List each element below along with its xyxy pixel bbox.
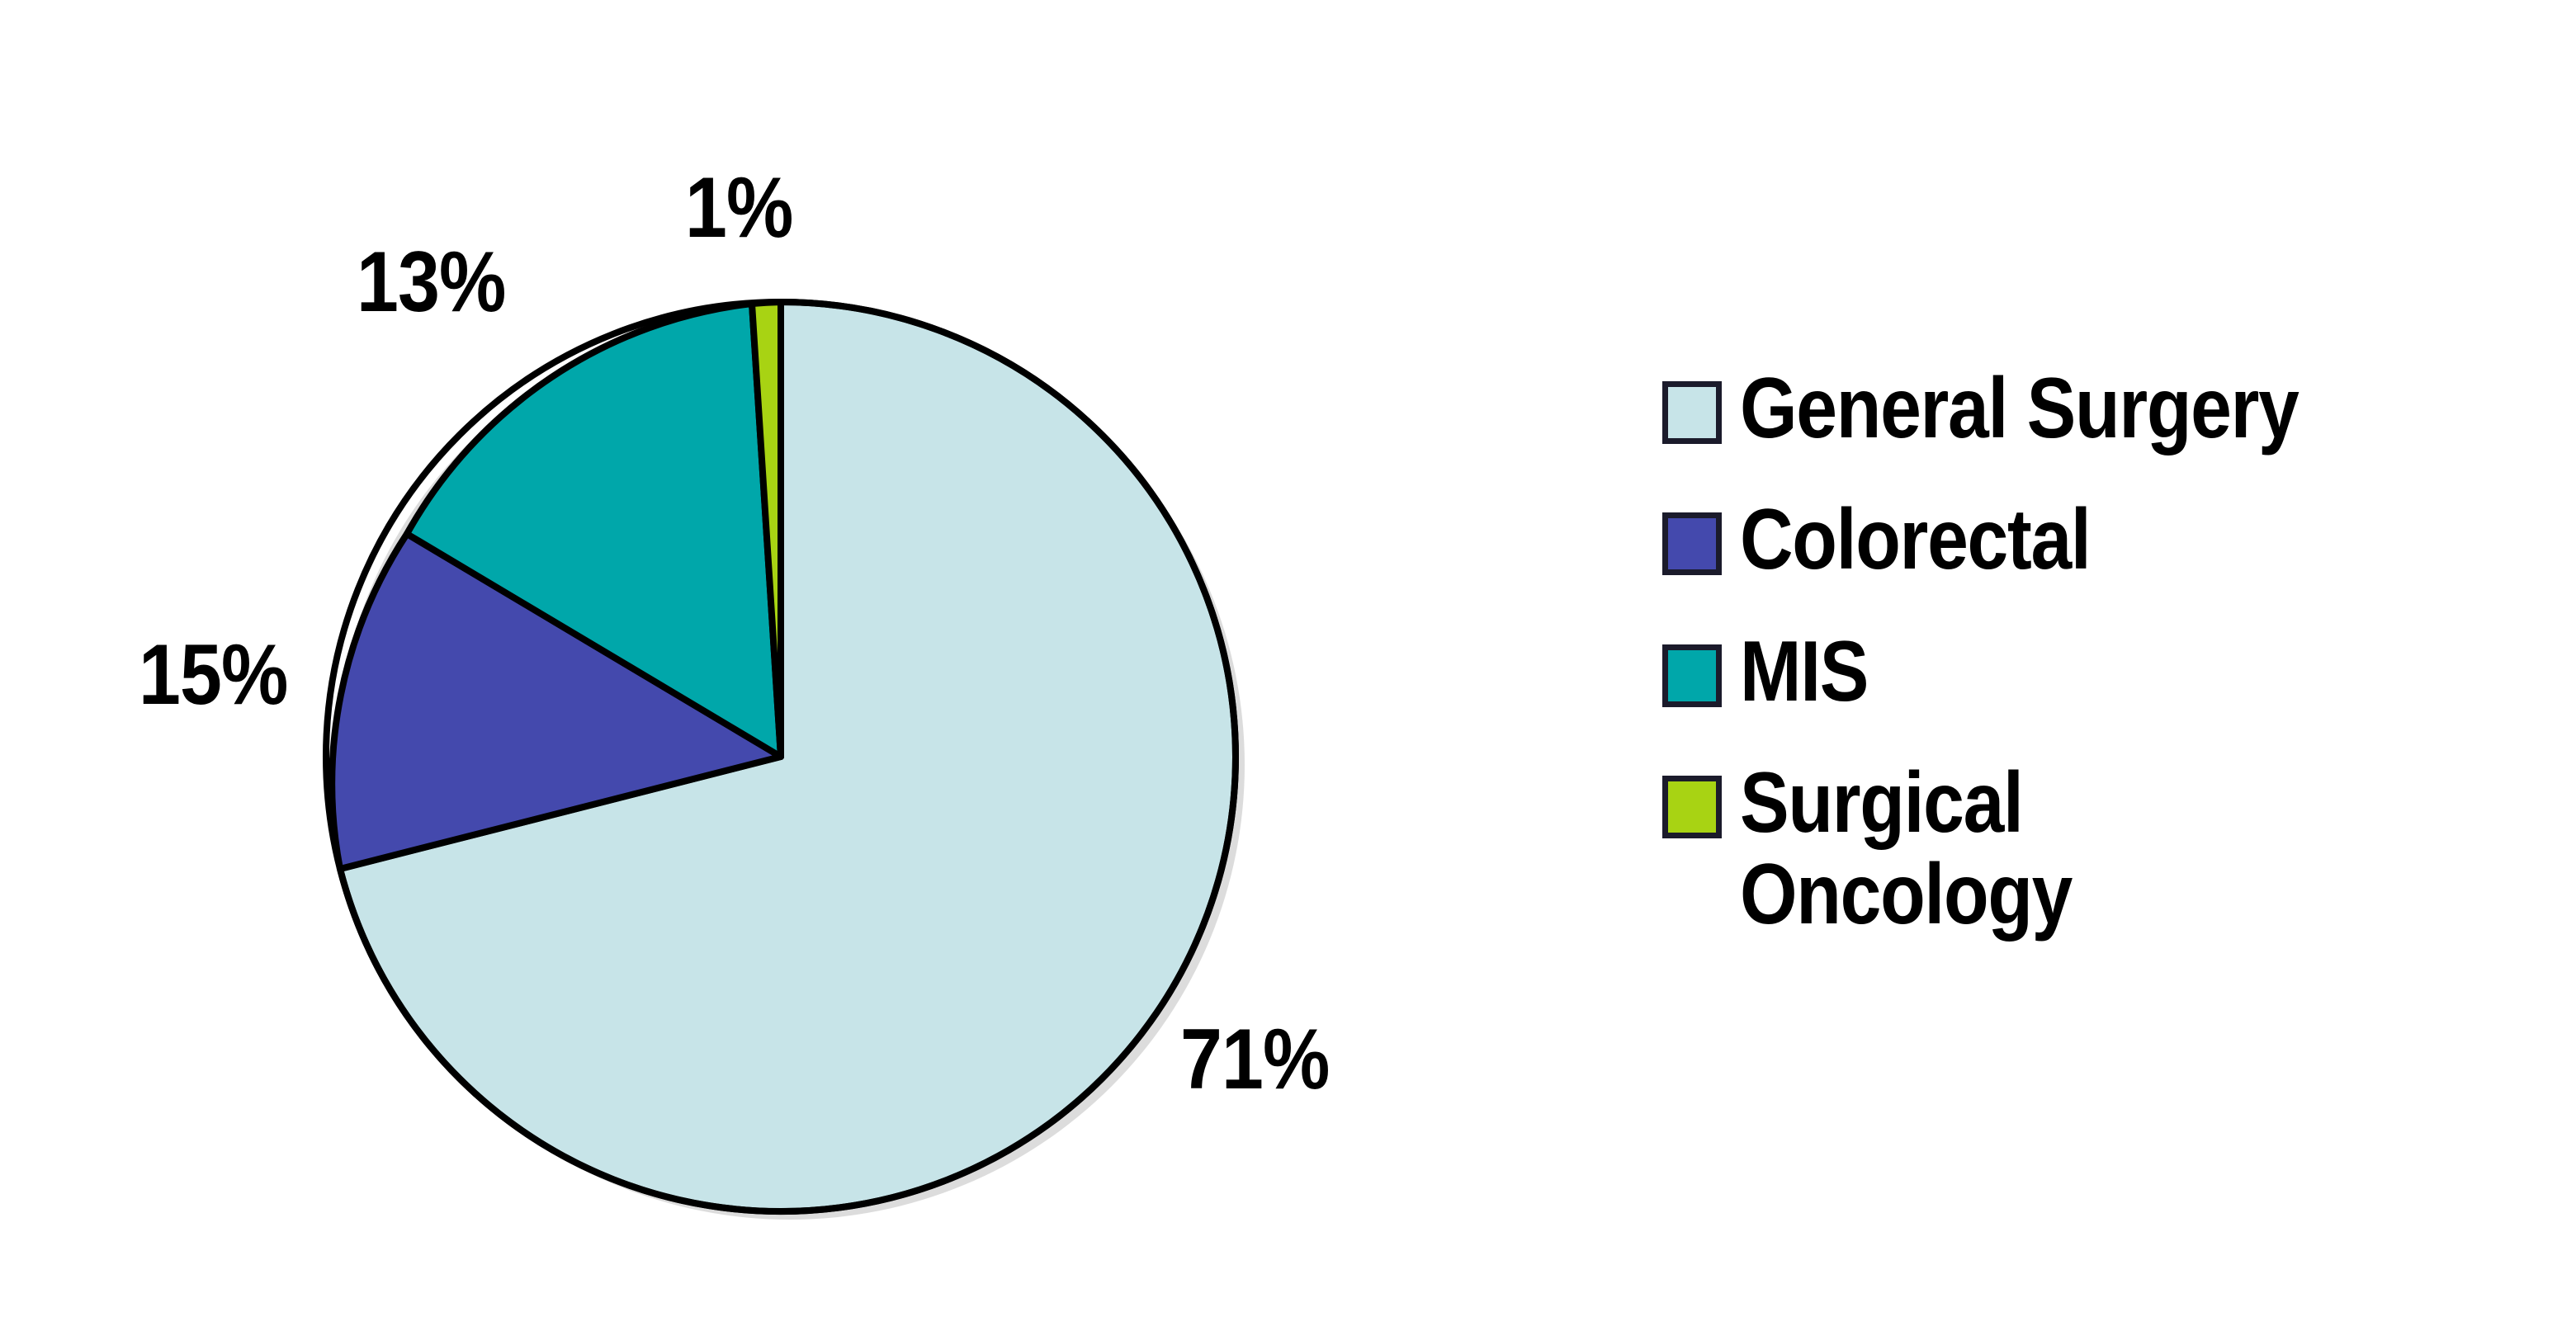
legend-item-surgical-oncology[interactable]: Surgical Oncology — [1662, 758, 2529, 942]
pie-label-general-surgery: 71% — [1180, 1017, 1330, 1102]
pie-chart-figure: 71% 15% 13% 1% General Surgery Colorecta… — [0, 0, 2576, 1331]
legend-label-surgical-oncology: Surgical Oncology — [1740, 758, 2072, 942]
legend-item-colorectal[interactable]: Colorectal — [1662, 494, 2529, 586]
legend-label-colorectal: Colorectal — [1740, 494, 2090, 586]
pie-label-colorectal: 15% — [139, 632, 288, 718]
pie-label-mis: 13% — [357, 239, 506, 325]
pie-chart-plot-area: 71% 15% 13% 1% — [0, 0, 1444, 1331]
chart-legend: General Surgery Colorectal MIS Surgical … — [1662, 363, 2529, 980]
legend-label-general-surgery: General Surgery — [1740, 363, 2299, 455]
legend-label-mis: MIS — [1740, 626, 1868, 718]
legend-item-general-surgery[interactable]: General Surgery — [1662, 363, 2529, 455]
pie-label-surgical-oncology: 1% — [685, 165, 793, 251]
legend-swatch-icon-colorectal — [1662, 512, 1722, 575]
legend-swatch-icon-general-surgery — [1662, 381, 1722, 444]
legend-swatch-icon-mis — [1662, 644, 1722, 707]
legend-item-mis[interactable]: MIS — [1662, 626, 2529, 718]
legend-swatch-icon-surgical-oncology — [1662, 776, 1722, 838]
